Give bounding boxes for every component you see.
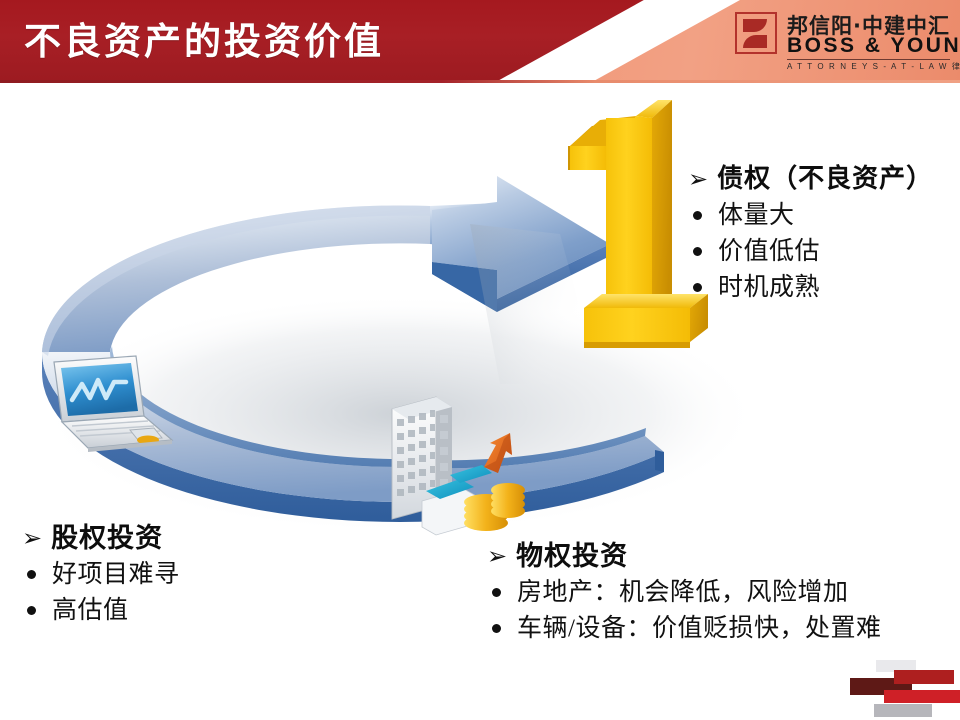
callout-debt-heading: ➢ 债权（不良资产） [688, 162, 933, 196]
list-item: 房地产：机会降低，风险增加 [487, 576, 881, 609]
callout-equity-item-0: 好项目难寻 [52, 558, 180, 591]
list-item: 时机成熟 [688, 271, 933, 304]
callout-equity: ➢ 股权投资 好项目难寻 高估值 [22, 521, 180, 627]
callout-debt: ➢ 债权（不良资产） 体量大 价值低估 时机成熟 [688, 162, 933, 304]
bullet-dot-icon [492, 588, 501, 597]
arrow-marker-icon: ➢ [487, 539, 507, 573]
list-item: 价值低估 [688, 235, 933, 268]
arrow-marker-icon: ➢ [22, 521, 42, 555]
header-underline [0, 80, 960, 83]
laptop-icon [44, 354, 184, 469]
diagram-stage: ➢ 债权（不良资产） 体量大 价值低估 时机成熟 ➢ 股权投资 好项目难寻 高估… [0, 84, 960, 720]
callout-property-heading: ➢ 物权投资 [487, 539, 881, 573]
logo-shape-top [743, 19, 767, 32]
callout-property-item-1: 车辆/设备：价值贬损快，处置难 [517, 612, 881, 645]
decor-bar-grey-bottom [874, 704, 932, 717]
page-title: 不良资产的投资价值 [24, 11, 384, 65]
callout-property-title: 物权投资 [516, 539, 628, 573]
bullet-dot-icon [693, 283, 702, 292]
decor-bar-red-upper [894, 670, 954, 684]
callout-debt-item-0: 体量大 [718, 199, 795, 232]
bullet-dot-icon [27, 570, 36, 579]
logo-shape-bottom [743, 35, 767, 48]
callout-property: ➢ 物权投资 房地产：机会降低，风险增加 车辆/设备：价值贬损快，处置难 [487, 539, 881, 645]
callout-debt-item-1: 价值低估 [718, 235, 820, 268]
bullet-dot-icon [693, 247, 702, 256]
list-item: 车辆/设备：价值贬损快，处置难 [487, 612, 881, 645]
decor-bar-red-lower [884, 690, 960, 703]
slide-header: 不良资产的投资价值 邦信阳·中建中汇 BOSS & YOUNG A T T O … [0, 0, 960, 84]
callout-equity-heading: ➢ 股权投资 [22, 521, 180, 555]
building-and-coins-icon [378, 389, 543, 544]
boss-young-mark-icon [735, 12, 777, 54]
bullet-dot-icon [693, 211, 702, 220]
callout-debt-item-2: 时机成熟 [718, 271, 820, 304]
callout-equity-item-1: 高估值 [52, 594, 129, 627]
list-item: 体量大 [688, 199, 933, 232]
callout-equity-title: 股权投资 [51, 521, 163, 555]
list-item: 好项目难寻 [22, 558, 180, 591]
callout-debt-title: 债权（不良资产） [717, 162, 933, 196]
callout-property-item-0: 房地产：机会降低，风险增加 [517, 576, 849, 609]
bullet-dot-icon [492, 624, 501, 633]
logo-subtitle: A T T O R N E Y S - A T - L A W 律 师 事 务 … [787, 61, 960, 72]
arrow-marker-icon: ➢ [688, 162, 708, 196]
bullet-dot-icon [27, 606, 36, 615]
list-item: 高估值 [22, 594, 180, 627]
brand-logo: 邦信阳·中建中汇 BOSS & YOUNG A T T O R N E Y S … [735, 10, 950, 72]
corner-decoration [848, 660, 960, 720]
logo-divider [787, 59, 950, 60]
logo-english-name: BOSS & YOUNG [787, 34, 960, 58]
